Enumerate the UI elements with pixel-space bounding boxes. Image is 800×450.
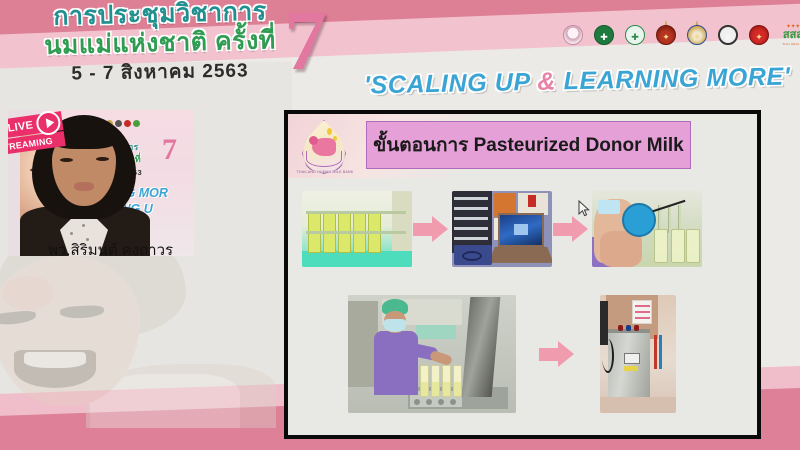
live-badge-line2: STREAMING xyxy=(8,135,53,153)
speaker-video-inset[interactable]: การประชุมวิชาการ นมแม่แห่งชาติ ครั้งที่ … xyxy=(8,110,194,256)
screenshot-stage: การประชุมวิชาการ นมแม่แห่งชาติ ครั้งที่ … xyxy=(0,0,800,450)
conference-title-block: การประชุมวิชาการ นมแม่แห่งชาติ ครั้งที่ … xyxy=(26,2,294,82)
drop-logo-circular-text: THAILAND HUMAN MILK BANK xyxy=(294,170,356,174)
speaker-mouth xyxy=(74,182,94,191)
thaihealth-main-text: สสส xyxy=(777,30,800,42)
photo-frozen-donor-milk-racks xyxy=(302,191,412,267)
slide-title: ขั้นตอนการ Pasteurized Donor Milk xyxy=(373,130,683,160)
photo-pasteurizer-machine xyxy=(600,295,676,413)
conference-title-line2: นมแม่แห่งชาติ ครั้งที่ xyxy=(26,28,295,60)
mouse-cursor xyxy=(578,200,590,218)
arrow-right-1 xyxy=(412,214,452,244)
arrow-right-3 xyxy=(538,339,578,369)
black-seal-logo: ♕ xyxy=(715,24,741,54)
sponsor-logo-row: ✚ ✚ ✦ ✦ ♕ ✦ ✦✦✦ สสส THAI HEALTH xyxy=(560,24,800,54)
photo-laptop-record-keeping xyxy=(452,191,552,267)
photo-hand-temperature-timer xyxy=(592,191,702,267)
red-crest-logo: ✦ xyxy=(746,24,772,54)
speaker-name-caption: พว.สิริมนต์ คงถาวร xyxy=(48,238,173,262)
health-department-green-logo: ✚ xyxy=(622,24,648,54)
tagline-part-1: 'SCALING UP xyxy=(364,68,538,100)
thaihealth-sub-text: THAI HEALTH xyxy=(777,42,800,46)
royal-thai-emblem-logo xyxy=(560,24,586,54)
slide-title-box: ขั้นตอนการ Pasteurized Donor Milk xyxy=(366,121,691,169)
presentation-slide[interactable]: THAILAND HUMAN MILK BANK ขั้นตอนการ Past… xyxy=(284,110,761,439)
process-flow-row-bottom xyxy=(348,294,728,414)
live-badge-line1: LIVE xyxy=(8,119,34,134)
tagline-part-2: LEARNING MORE' xyxy=(556,63,791,96)
royal-crest-red-logo: ✦ xyxy=(653,24,679,54)
inset-edition-number: 7 xyxy=(162,135,177,165)
photo-nurse-loading-milk-bottles xyxy=(348,295,516,413)
tagline-ampersand: & xyxy=(537,67,556,95)
conference-tagline: 'SCALING UP & LEARNING MORE' xyxy=(364,63,791,101)
arrow-right-2 xyxy=(552,214,592,244)
ministry-public-health-green-logo: ✚ xyxy=(591,24,617,54)
process-flow-row-top xyxy=(302,189,742,269)
conference-date: 5 - 7 สิงหาคม 2563 xyxy=(26,61,294,85)
human-milk-bank-drop-logo: THAILAND HUMAN MILK BANK xyxy=(294,118,356,184)
thaihealth-logo: ✦✦✦ สสส THAI HEALTH xyxy=(777,24,800,54)
conference-edition-number: 7 xyxy=(284,0,327,90)
golden-pagoda-logo: ✦ xyxy=(684,24,710,54)
